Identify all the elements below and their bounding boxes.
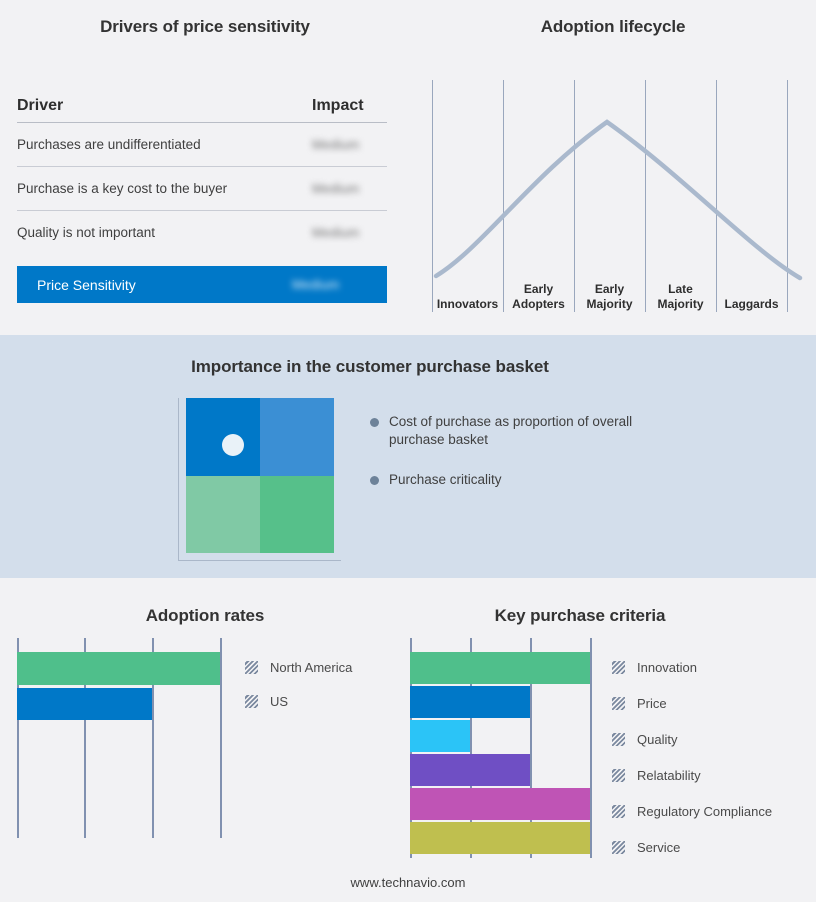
footer-url: www.technavio.com bbox=[0, 875, 816, 890]
summary-impact-value-text: Medium bbox=[292, 277, 339, 292]
table-row: Quality is not important Medium bbox=[17, 211, 387, 254]
importance-matrix bbox=[178, 398, 343, 563]
importance-title: Importance in the customer purchase bask… bbox=[0, 357, 740, 377]
impact-value-text: Medium bbox=[312, 225, 359, 240]
adoption-rates-chart: North America US bbox=[17, 638, 387, 838]
drivers-title: Drivers of price sensitivity bbox=[0, 17, 410, 37]
hatch-swatch-icon bbox=[612, 661, 625, 674]
adoption-lifecycle-title: Adoption lifecycle bbox=[410, 17, 816, 37]
bullet-icon bbox=[370, 476, 379, 485]
lifecycle-segment-label: Early Adopters bbox=[503, 282, 574, 312]
hatch-swatch-icon bbox=[245, 695, 258, 708]
purchase-criteria-legend: Innovation Price Quality Relatability Re… bbox=[612, 660, 772, 855]
purchase-criteria-panel: Key purchase criteria Innovation bbox=[400, 578, 816, 902]
legend-label: North America bbox=[270, 660, 352, 675]
legend-item: Purchase criticality bbox=[370, 471, 670, 489]
segment-line-2: Innovators bbox=[432, 297, 503, 312]
bar-innovation bbox=[410, 652, 590, 684]
segment-line-1: Early bbox=[503, 282, 574, 297]
hatch-swatch-icon bbox=[245, 661, 258, 674]
adoption-curve bbox=[432, 80, 804, 312]
segment-line-1: Early bbox=[574, 282, 645, 297]
hatch-swatch-icon bbox=[612, 769, 625, 782]
table-row: Purchases are undifferentiated Medium bbox=[17, 123, 387, 167]
legend-label: Service bbox=[637, 840, 680, 855]
impact-value: Medium bbox=[312, 137, 387, 152]
adoption-rates-panel: Adoption rates North America US bbox=[0, 578, 410, 902]
lifecycle-segment-label: Late Majority bbox=[645, 282, 716, 312]
matrix-quadrants bbox=[186, 398, 334, 553]
chart-gridline bbox=[220, 638, 222, 838]
lifecycle-segment-label: Innovators bbox=[432, 297, 503, 312]
driver-label: Purchase is a key cost to the buyer bbox=[17, 181, 312, 196]
adoption-lifecycle-panel: Adoption lifecycle Innovators Early Adop… bbox=[410, 0, 816, 335]
legend-label: Purchase criticality bbox=[389, 471, 502, 489]
impact-value-text: Medium bbox=[312, 137, 359, 152]
legend-item: Innovation bbox=[612, 660, 772, 675]
column-header-driver: Driver bbox=[17, 97, 312, 115]
segment-line-2: Adopters bbox=[503, 297, 574, 312]
chart-gridline bbox=[590, 638, 592, 858]
adoption-lifecycle-chart: Innovators Early Adopters Early Majority… bbox=[432, 80, 804, 312]
legend-label: Quality bbox=[637, 732, 677, 747]
hatch-swatch-icon bbox=[612, 733, 625, 746]
legend-label: US bbox=[270, 694, 288, 709]
lifecycle-segment-label: Laggards bbox=[716, 297, 787, 312]
legend-item: Price bbox=[612, 696, 772, 711]
summary-label: Price Sensitivity bbox=[37, 277, 292, 293]
bar-quality bbox=[410, 720, 470, 752]
legend-item: Regulatory Compliance bbox=[612, 804, 772, 819]
bullet-icon bbox=[370, 418, 379, 427]
summary-impact-value: Medium bbox=[292, 277, 387, 292]
driver-label: Quality is not important bbox=[17, 225, 312, 240]
matrix-quadrant-bottom-right bbox=[260, 476, 334, 554]
legend-label: Innovation bbox=[637, 660, 697, 675]
legend-item: North America bbox=[245, 660, 352, 675]
matrix-quadrant-top-right bbox=[260, 398, 334, 476]
segment-line-2: Majority bbox=[645, 297, 716, 312]
top-section: Drivers of price sensitivity Driver Impa… bbox=[0, 0, 816, 335]
drivers-panel: Drivers of price sensitivity Driver Impa… bbox=[0, 0, 410, 335]
bar-relatability bbox=[410, 754, 530, 786]
matrix-quadrant-bottom-left bbox=[186, 476, 260, 554]
driver-label: Purchases are undifferentiated bbox=[17, 137, 312, 152]
importance-legend: Cost of purchase as proportion of overal… bbox=[370, 413, 670, 511]
legend-item: US bbox=[245, 694, 352, 709]
adoption-plot-area bbox=[17, 638, 222, 838]
impact-value: Medium bbox=[312, 181, 387, 196]
price-sensitivity-summary-row: Price Sensitivity Medium bbox=[17, 266, 387, 303]
bell-curve-path bbox=[436, 122, 800, 278]
bottom-section: Adoption rates North America US bbox=[0, 578, 816, 902]
adoption-rates-legend: North America US bbox=[245, 660, 352, 709]
legend-label: Cost of purchase as proportion of overal… bbox=[389, 413, 647, 449]
drivers-table: Driver Impact Purchases are undifferenti… bbox=[17, 90, 387, 303]
legend-label: Price bbox=[637, 696, 667, 711]
segment-line-2: Majority bbox=[574, 297, 645, 312]
hatch-swatch-icon bbox=[612, 805, 625, 818]
importance-section: Importance in the customer purchase bask… bbox=[0, 335, 816, 578]
hatch-swatch-icon bbox=[612, 841, 625, 854]
matrix-quadrant-top-left bbox=[186, 398, 260, 476]
bar-service bbox=[410, 822, 590, 854]
purchase-criteria-chart: Innovation Price Quality Relatability Re… bbox=[410, 638, 810, 858]
segment-line-2: Laggards bbox=[716, 297, 787, 312]
table-header-row: Driver Impact bbox=[17, 90, 387, 123]
bar-us bbox=[17, 688, 152, 720]
legend-label: Relatability bbox=[637, 768, 701, 783]
column-header-impact: Impact bbox=[312, 97, 387, 115]
legend-item: Service bbox=[612, 840, 772, 855]
lifecycle-segment-label: Early Majority bbox=[574, 282, 645, 312]
legend-item: Quality bbox=[612, 732, 772, 747]
purchase-criteria-title: Key purchase criteria bbox=[400, 606, 760, 626]
adoption-rates-title: Adoption rates bbox=[0, 606, 410, 626]
segment-line-1: Late bbox=[645, 282, 716, 297]
bar-price bbox=[410, 686, 530, 718]
criteria-plot-area bbox=[410, 638, 592, 858]
bar-regulatory-compliance bbox=[410, 788, 590, 820]
matrix-position-marker bbox=[222, 434, 244, 456]
hatch-swatch-icon bbox=[612, 697, 625, 710]
bar-north-america bbox=[17, 652, 220, 685]
legend-item: Relatability bbox=[612, 768, 772, 783]
table-row: Purchase is a key cost to the buyer Medi… bbox=[17, 167, 387, 211]
legend-label: Regulatory Compliance bbox=[637, 804, 772, 819]
impact-value-text: Medium bbox=[312, 181, 359, 196]
legend-item: Cost of purchase as proportion of overal… bbox=[370, 413, 670, 449]
impact-value: Medium bbox=[312, 225, 387, 240]
